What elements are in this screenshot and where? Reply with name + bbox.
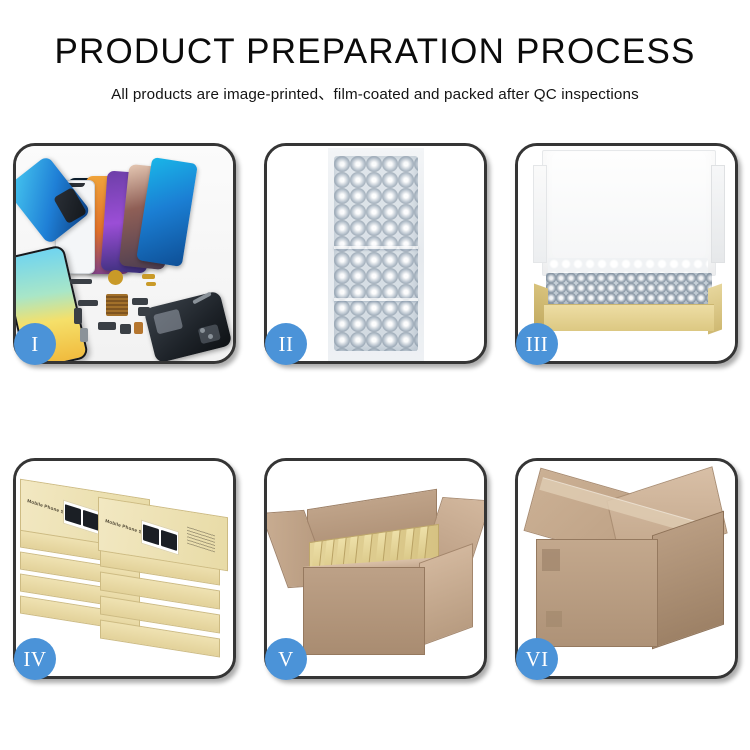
camera-lens-icon: [138, 307, 150, 316]
step-panel-1[interactable]: I: [13, 143, 236, 364]
step-badge-6: VI: [516, 638, 558, 680]
bubble-wrap-seam-2-icon: [334, 298, 418, 301]
screw-2-icon: [208, 334, 213, 339]
screw-set-icon: [106, 294, 128, 316]
step-badge-2: II: [265, 323, 307, 365]
step-badge-4: IV: [14, 638, 56, 680]
speaker-part-icon: [108, 270, 123, 285]
step-panel-4[interactable]: Mobile Phone Spare Parts Mobile Phone Sp…: [13, 458, 236, 679]
button-flex-icon: [78, 300, 98, 306]
step-badge-1: I: [14, 323, 56, 365]
box-window-screen-icon: [83, 509, 99, 531]
box-window-screen-icon: [161, 529, 177, 551]
connector-part-2-icon: [146, 282, 156, 286]
sealed-carton-side-face-icon: [652, 511, 724, 650]
screw-icon: [200, 328, 205, 333]
carton-front-face-icon: [303, 567, 425, 655]
earpiece-part-icon: [98, 322, 116, 330]
step-panel-2[interactable]: II: [264, 143, 487, 364]
box-front-panel-icon: [544, 304, 714, 331]
page-subtitle: All products are image-printed、film-coat…: [0, 82, 750, 104]
step-panel-6[interactable]: VI: [515, 458, 738, 679]
carton-flap-tab-2-icon: [546, 611, 562, 627]
flex-cable-part-icon: [70, 279, 92, 284]
box-window-screen-icon: [143, 524, 159, 546]
box-window-screen-icon: [65, 504, 81, 526]
step-panel-3[interactable]: III: [515, 143, 738, 364]
carton-side-face-icon: [419, 543, 473, 647]
bubble-wrap-icon: [328, 148, 424, 361]
step-badge-3: III: [516, 323, 558, 365]
volume-flex-icon: [74, 308, 82, 324]
page-header: PRODUCT PREPARATION PROCESS All products…: [0, 0, 750, 104]
battery-connector-icon: [134, 322, 143, 334]
process-step-grid: I II III: [13, 143, 737, 679]
step-badge-5: V: [265, 638, 307, 680]
carton-flap-tab-icon: [542, 549, 560, 571]
step-panel-5[interactable]: V: [264, 458, 487, 679]
page-title: PRODUCT PREPARATION PROCESS: [0, 34, 750, 69]
bubble-wrap-seam-icon: [334, 246, 418, 249]
sim-tray-icon: [80, 328, 88, 342]
connector-part-icon: [142, 274, 155, 279]
phone-back-housing-icon: [143, 290, 232, 361]
camera-module-icon: [132, 298, 148, 305]
bubble-wrap-texture: [334, 156, 418, 351]
vibrator-part-icon: [120, 324, 131, 334]
bubble-wrapped-contents-icon: [546, 273, 712, 307]
